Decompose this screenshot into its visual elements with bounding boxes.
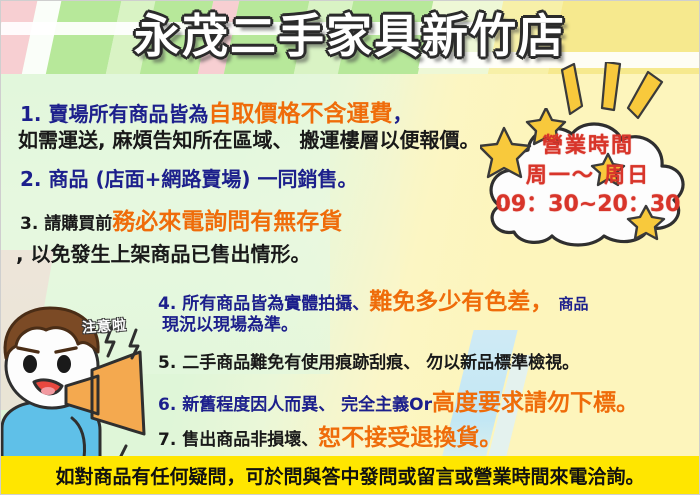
rule-1-seg-3: ， <box>392 102 412 126</box>
rule-2-line-1: 2. 商品 (店面+網路賣場) 一同銷售。 <box>20 163 357 192</box>
business-hours-text: 營業時間 周一～ 周日 09：30~20：30 <box>480 130 696 220</box>
footer-banner: 如對商品有任何疑問，可於問與答中發問或留言或營業時間來電洽詢。 <box>0 456 700 495</box>
rule-7-line-1: 7. 售出商品非損壞、恕不接受退換貨。 <box>158 418 502 452</box>
rule-3-line-2: , 以免發生上架商品已售出情形。 <box>16 238 311 267</box>
footer-note: 如對商品有任何疑問，可於問與答中發問或留言或營業時間來電洽詢。 <box>55 462 644 489</box>
rule-1-line-2: 如需運送, 麻煩告知所在區域、 搬運樓層以便報價。 <box>18 124 480 153</box>
rule-1-seg-1: 1. 賣場所有商品皆為 <box>20 102 208 126</box>
business-hours-bubble: 營業時間 周一～ 周日 09：30~20：30 <box>480 108 696 248</box>
rule-3-seg-1: 3. 請購買前 <box>20 214 112 234</box>
rule-6-seg-1: 6. 新舊程度因人而異、 完全主義Or <box>158 395 432 415</box>
rule-4-seg-3: 商品 <box>553 295 588 313</box>
rule-1-line-1: 1. 賣場所有商品皆為自取價格不含運費， <box>20 94 412 128</box>
hours-line-3: 09：30~20：30 <box>480 190 696 220</box>
page-title: 永茂二手家具新竹店 <box>134 8 566 64</box>
rule-3-seg-highlight: 務必來電詢問有無存貨 <box>112 209 342 235</box>
hours-line-1: 營業時間 <box>480 130 696 160</box>
rule-5-line-1: 5. 二手商品難免有使用痕跡刮痕、 勿以新品標準檢視。 <box>158 348 579 373</box>
rule-6-line-1: 6. 新舊程度因人而異、 完全主義Or高度要求請勿下標。 <box>158 383 639 417</box>
rule-7-seg-highlight: 恕不接受退換貨。 <box>318 425 502 451</box>
poster-root: 永茂二手家具新竹店 營業時間 周一～ 周日 09：30~20：30 <box>0 0 700 495</box>
attention-label: 注意啦 <box>81 314 127 337</box>
rule-4-seg-highlight: 難免多少有色差， <box>369 289 553 315</box>
rule-6-seg-highlight: 高度要求請勿下標。 <box>432 390 639 416</box>
rule-3-line-1: 3. 請購買前務必來電詢問有無存貨 <box>20 202 342 236</box>
title-area: 永茂二手家具新竹店 <box>0 8 700 64</box>
hours-line-2: 周一～ 周日 <box>480 160 696 190</box>
